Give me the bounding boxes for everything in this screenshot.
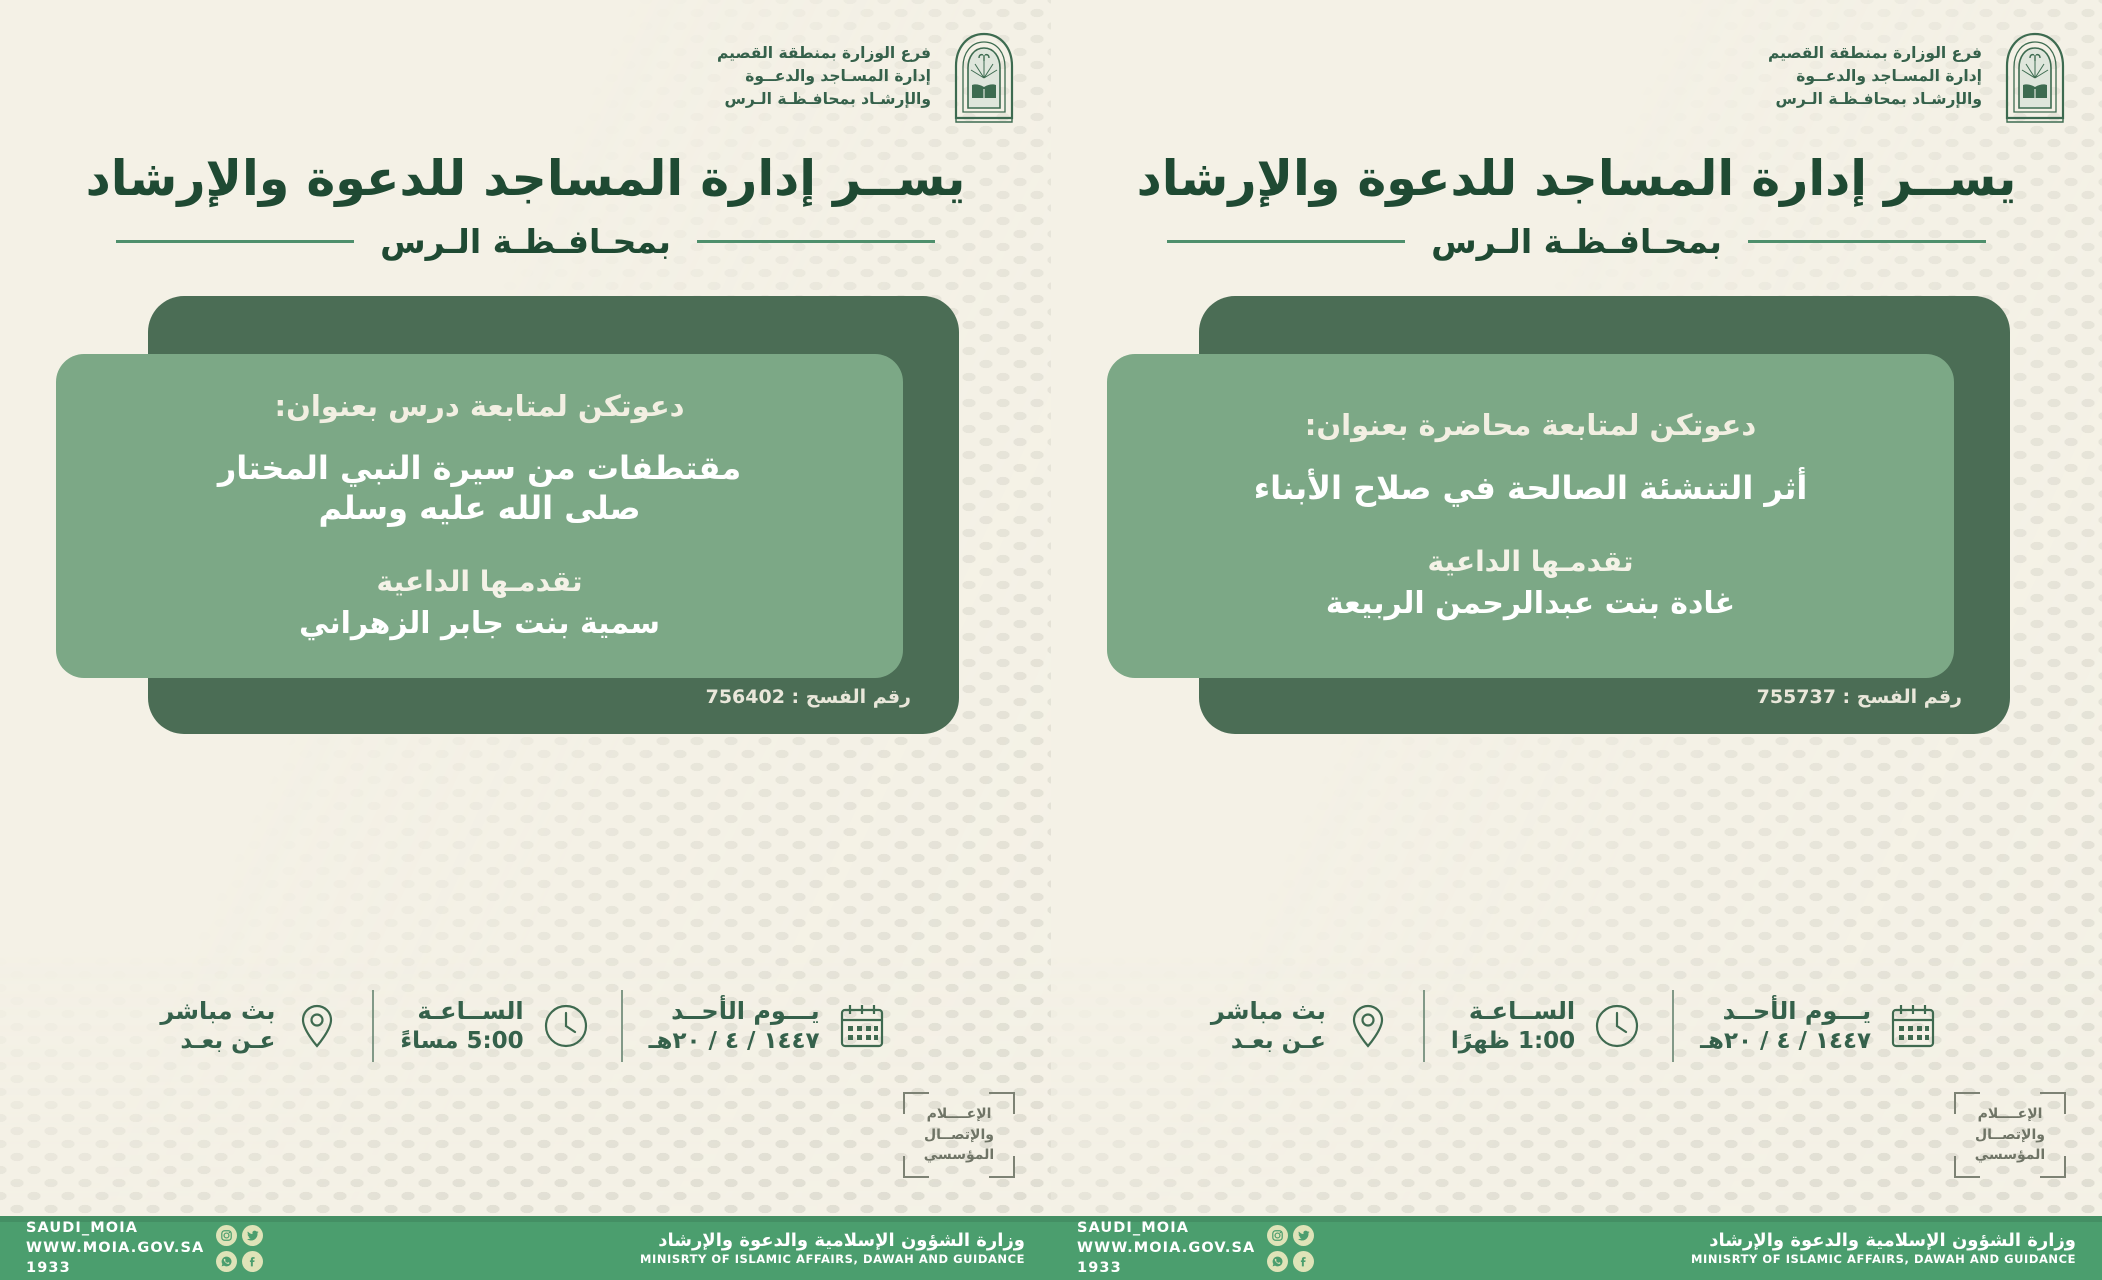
social-icons — [216, 1225, 263, 1272]
poster-pair: فرع الوزارة بمنطقة القصيم إدارة المسـاجد… — [0, 0, 2102, 1280]
permit-number: رقم الفسح : 756402 — [706, 686, 911, 708]
divider-1 — [621, 990, 623, 1062]
date-day: يـــوم الأحــد — [1700, 997, 1871, 1026]
mode-line1: بث مباشر — [160, 997, 275, 1026]
org-line-1: فرع الوزارة بمنطقة القصيم — [1768, 44, 1982, 64]
media-badge-line2: والإتصــال — [1975, 1126, 2045, 1145]
media-badge-line1: الإعــــلام — [927, 1105, 992, 1124]
footer-ministry: وزارة الشؤون الإسلامية والدعوة والإرشاد … — [1691, 1229, 2102, 1267]
media-badge-line2: والإتصــال — [924, 1126, 994, 1145]
instagram-icon[interactable] — [216, 1225, 237, 1246]
info-time: الســاعـة 1:00 ظهرًا — [1425, 997, 1672, 1055]
media-badge-line1: الإعــــلام — [1978, 1105, 2043, 1124]
divider-2 — [372, 990, 374, 1062]
rule-left — [697, 240, 935, 243]
clock-icon — [537, 997, 595, 1055]
mode-line2: عـن بعـد — [160, 1027, 275, 1055]
announcement-card: رقم الفسح : 756402 دعوتكن لمتابعة درس بع… — [0, 296, 1051, 734]
poster-lesson: فرع الوزارة بمنطقة القصيم إدارة المسـاجد… — [0, 0, 1051, 1280]
time-value: 1:00 ظهرًا — [1451, 1027, 1575, 1055]
ministry-name-en: MINISRTY OF ISLAMIC AFFAIRS, DAWAH AND G… — [1691, 1252, 2076, 1267]
ministry-name-en: MINISRTY OF ISLAMIC AFFAIRS, DAWAH AND G… — [640, 1252, 1025, 1267]
footer-bar: وزارة الشؤون الإسلامية والدعوة والإرشاد … — [1051, 1216, 2102, 1280]
footer-bar: وزارة الشؤون الإسلامية والدعوة والإرشاد … — [0, 1216, 1051, 1280]
media-badge-line3: المؤسسي — [924, 1146, 994, 1165]
ministry-name-ar: وزارة الشؤون الإسلامية والدعوة والإرشاد — [640, 1229, 1025, 1252]
org-line-3: والإرشـاد بمحافـظـة الـرس — [1768, 90, 1982, 110]
org-line-3: والإرشـاد بمحافـظـة الـرس — [717, 90, 931, 110]
calendar-icon — [1884, 997, 1942, 1055]
facebook-icon[interactable] — [242, 1251, 263, 1272]
org-line-1: فرع الوزارة بمنطقة القصيم — [717, 44, 931, 64]
location-pin-icon — [1339, 997, 1397, 1055]
rule-right — [1167, 240, 1405, 243]
divider-2 — [1423, 990, 1425, 1062]
org-line-2: إدارة المسـاجد والدعــوة — [717, 67, 931, 87]
presenter-label: تقدمـها الداعية — [1428, 545, 1634, 578]
page-subtitle: بمحـافـظـة الـرس — [1431, 222, 1722, 261]
phone-number: 1933 — [26, 1258, 204, 1278]
announcement-card: رقم الفسح : 755737 دعوتكن لمتابعة محاضرة… — [1051, 296, 2102, 734]
subtitle-row: بمحـافـظـة الـرس — [1051, 222, 2102, 261]
mode-line1: بث مباشر — [1211, 997, 1326, 1026]
social-icons — [1267, 1225, 1314, 1272]
social-handle: SAUDI_MOIA — [26, 1218, 204, 1238]
rule-left — [1748, 240, 1986, 243]
ministry-name-ar: وزارة الشؤون الإسلامية والدعوة والإرشاد — [1691, 1229, 2076, 1252]
invite-text: دعوتكن لمتابعة درس بعنوان: — [274, 388, 684, 426]
permit-number: رقم الفسح : 755737 — [1757, 686, 1962, 708]
badge-corner-bl — [1954, 1156, 1980, 1178]
location-pin-icon — [288, 997, 346, 1055]
twitter-icon[interactable] — [1293, 1225, 1314, 1246]
presenter-block: تقدمـها الداعية سمية بنت جابر الزهراني — [299, 563, 660, 645]
badge-corner-bl — [903, 1156, 929, 1178]
subject-line-2: صلى الله عليه وسلم — [318, 489, 640, 527]
subtitle-row: بمحـافـظـة الـرس — [0, 222, 1051, 261]
badge-corner-tl — [903, 1092, 929, 1114]
info-date: يـــوم الأحــد ١٤٤٧ / ٤ / ٢٠هـ — [623, 997, 917, 1055]
badge-corner-br — [2040, 1156, 2066, 1178]
date-day: يـــوم الأحــد — [649, 997, 820, 1026]
divider-1 — [1672, 990, 1674, 1062]
whatsapp-icon[interactable] — [1267, 1251, 1288, 1272]
media-badge-line3: المؤسسي — [1975, 1146, 2045, 1165]
info-time: الســاعـة 5:00 مساءً — [374, 997, 620, 1055]
event-info-strip: يـــوم الأحــد ١٤٤٧ / ٤ / ٢٠هـ الســاعـة — [0, 990, 1051, 1062]
card-content: دعوتكن لمتابعة درس بعنوان: مقتطفات من سي… — [56, 354, 903, 678]
ministry-crest-icon — [1996, 30, 2074, 124]
website-url: WWW.MOIA.GOV.SA — [26, 1238, 204, 1258]
date-hijri: ١٤٤٧ / ٤ / ٢٠هـ — [1700, 1027, 1871, 1055]
badge-corner-tr — [989, 1092, 1015, 1114]
subject-title: مقتطفات من سيرة النبي المختار صلى الله ع… — [218, 449, 741, 528]
page-title: يســر إدارة المساجد للدعوة والإرشاد — [0, 150, 1051, 207]
instagram-icon[interactable] — [1267, 1225, 1288, 1246]
subject-title: أثر التنشئة الصالحة في صلاح الأبناء — [1254, 469, 1808, 509]
presenter-block: تقدمـها الداعية غادة بنت عبدالرحمن الربي… — [1326, 543, 1735, 625]
ministry-header: فرع الوزارة بمنطقة القصيم إدارة المسـاجد… — [1768, 30, 2074, 124]
media-badge: الإعــــلام والإتصــال المؤسسي — [1954, 1092, 2066, 1178]
info-date: يـــوم الأحــد ١٤٤٧ / ٤ / ٢٠هـ — [1674, 997, 1968, 1055]
info-mode: بث مباشر عـن بعـد — [1185, 997, 1423, 1055]
ministry-header: فرع الوزارة بمنطقة القصيم إدارة المسـاجد… — [717, 30, 1023, 124]
rule-right — [116, 240, 354, 243]
twitter-icon[interactable] — [242, 1225, 263, 1246]
whatsapp-icon[interactable] — [216, 1251, 237, 1272]
phone-number: 1933 — [1077, 1258, 1255, 1278]
invite-text: دعوتكن لمتابعة محاضرة بعنوان: — [1305, 407, 1756, 445]
card-content: دعوتكن لمتابعة محاضرة بعنوان: أثر التنشئ… — [1107, 354, 1954, 678]
mode-line2: عـن بعـد — [1211, 1027, 1326, 1055]
time-value: 5:00 مساءً — [400, 1027, 523, 1055]
footer-contacts: SAUDI_MOIA WWW.MOIA.GOV.SA 1933 — [1051, 1218, 1314, 1278]
poster-lecture: فرع الوزارة بمنطقة القصيم إدارة المسـاجد… — [1051, 0, 2102, 1280]
page-title: يســر إدارة المساجد للدعوة والإرشاد — [1051, 150, 2102, 207]
presenter-label: تقدمـها الداعية — [377, 565, 583, 598]
footer-contacts: SAUDI_MOIA WWW.MOIA.GOV.SA 1933 — [0, 1218, 263, 1278]
website-url: WWW.MOIA.GOV.SA — [1077, 1238, 1255, 1258]
presenter-name: غادة بنت عبدالرحمن الربيعة — [1326, 584, 1735, 624]
badge-corner-tr — [2040, 1092, 2066, 1114]
date-hijri: ١٤٤٧ / ٤ / ٢٠هـ — [649, 1027, 820, 1055]
badge-corner-br — [989, 1156, 1015, 1178]
org-line-2: إدارة المسـاجد والدعــوة — [1768, 67, 1982, 87]
social-handle: SAUDI_MOIA — [1077, 1218, 1255, 1238]
footer-ministry: وزارة الشؤون الإسلامية والدعوة والإرشاد … — [640, 1229, 1051, 1267]
page-subtitle: بمحـافـظـة الـرس — [380, 222, 671, 261]
info-mode: بث مباشر عـن بعـد — [134, 997, 372, 1055]
clock-icon — [1588, 997, 1646, 1055]
presenter-name: سمية بنت جابر الزهراني — [299, 604, 660, 644]
media-badge: الإعــــلام والإتصــال المؤسسي — [903, 1092, 1015, 1178]
badge-corner-tl — [1954, 1092, 1980, 1114]
facebook-icon[interactable] — [1293, 1251, 1314, 1272]
subject-line-1: مقتطفات من سيرة النبي المختار — [218, 449, 741, 487]
calendar-icon — [833, 997, 891, 1055]
time-label: الســاعـة — [1451, 997, 1575, 1026]
ministry-crest-icon — [945, 30, 1023, 124]
time-label: الســاعـة — [400, 997, 523, 1026]
event-info-strip: يـــوم الأحــد ١٤٤٧ / ٤ / ٢٠هـ الســاعـة — [1051, 990, 2102, 1062]
